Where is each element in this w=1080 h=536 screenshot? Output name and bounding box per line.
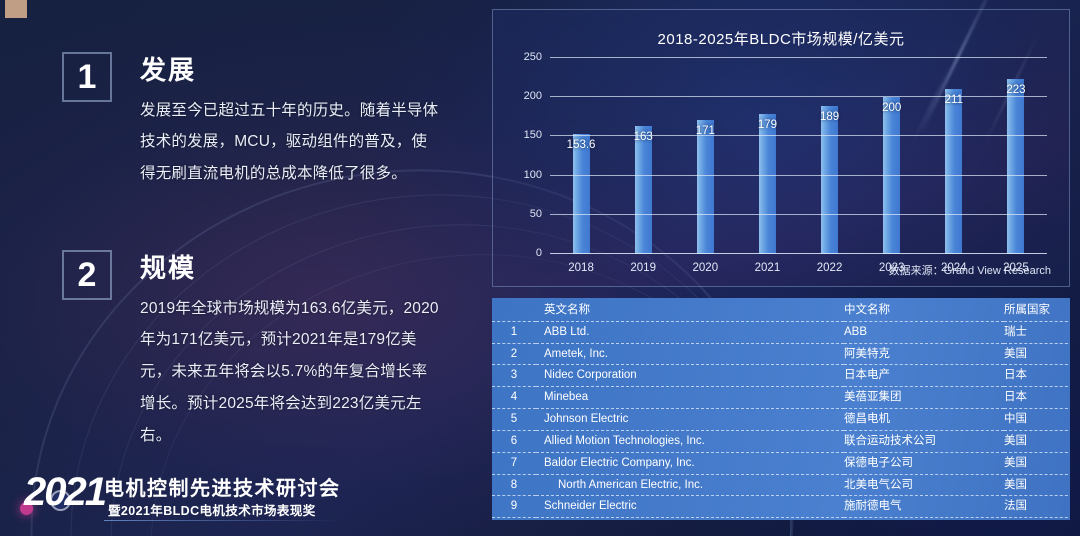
cell-chinese-name: 日本电产 — [844, 365, 1004, 387]
cell-country: 美国 — [1004, 452, 1070, 474]
column-header-country: 所属国家 — [1004, 298, 1070, 321]
column-header-english: 英文名称 — [536, 298, 844, 321]
section-number-badge: 2 — [62, 250, 112, 300]
logo-divider — [104, 520, 342, 521]
chart-y-axis-tick: 50 — [530, 208, 542, 220]
cell-country: 美国 — [1004, 518, 1070, 520]
section-development: 1 发展 发展至今已超过五十年的历史。随着半导体技术的发展，MCU，驱动组件的普… — [62, 52, 440, 190]
cell-country: 美国 — [1004, 343, 1070, 365]
table-row[interactable]: 5Johnson Electric德昌电机中国 — [492, 409, 1070, 431]
chart-bar-slot: 1712020 — [674, 58, 736, 254]
cell-index: 10 — [492, 518, 536, 520]
logo-year: 2021 — [24, 472, 105, 512]
chart-gridline: 50 — [550, 214, 1047, 215]
cell-english-name: Ametek, Inc. — [536, 343, 844, 365]
cell-index: 3 — [492, 365, 536, 387]
section-body: 发展 发展至今已超过五十年的历史。随着半导体技术的发展，MCU，驱动组件的普及，… — [140, 56, 440, 190]
chart-bar[interactable]: 171 — [697, 120, 714, 254]
table-row[interactable]: 4Minebea美蓓亚集团日本 — [492, 387, 1070, 409]
table-head: 英文名称 中文名称 所属国家 — [492, 298, 1070, 321]
cell-chinese-name: 雷勃电气 — [844, 518, 1004, 520]
table-row[interactable]: 2Ametek, Inc.阿美特克美国 — [492, 343, 1070, 365]
section-body: 规模 2019年全球市场规模为163.6亿美元，2020年为171亿美元，预计2… — [140, 254, 440, 451]
chart-y-axis-tick: 100 — [524, 169, 542, 181]
chart-bar-slot: 1632019 — [612, 58, 674, 254]
table-row[interactable]: 10Regal Beloit Corp.雷勃电气美国 — [492, 518, 1070, 520]
table-body: 1ABB Ltd.ABB瑞士2Ametek, Inc.阿美特克美国3Nidec … — [492, 321, 1070, 520]
cell-english-name: Allied Motion Technologies, Inc. — [536, 430, 844, 452]
chart-y-axis-tick: 0 — [536, 247, 542, 259]
section-title: 发展 — [140, 56, 440, 85]
chart-x-axis-tick: 2020 — [693, 262, 719, 274]
table-row[interactable]: 6Allied Motion Technologies, Inc.联合运动技术公… — [492, 430, 1070, 452]
chart-bar[interactable]: 211 — [945, 89, 962, 254]
cell-country: 日本 — [1004, 387, 1070, 409]
chart-bar-value-label: 200 — [882, 102, 901, 114]
chart-bar-value-label: 189 — [820, 111, 839, 123]
cell-index: 8 — [492, 474, 536, 496]
top-companies-table-panel: 英文名称 中文名称 所属国家 1ABB Ltd.ABB瑞士2Ametek, In… — [492, 298, 1070, 520]
cell-english-name: Minebea — [536, 387, 844, 409]
cell-english-name: ABB Ltd. — [536, 321, 844, 343]
chart-bar[interactable]: 153.6 — [573, 134, 590, 254]
section-paragraph: 2019年全球市场规模为163.6亿美元，2020年为171亿美元，预计2021… — [140, 293, 440, 452]
logo-title: 电机控制先进技术研讨会 — [104, 472, 341, 501]
cell-english-name: Schneider Electric — [536, 496, 844, 518]
column-header-index — [492, 298, 536, 321]
chart-y-axis-tick: 250 — [524, 51, 542, 63]
event-logo: 2021 电机控制先进技术研讨会 暨2021年BLDC电机技术市场表现奖 — [14, 466, 354, 530]
chart-bar-slot: 1892022 — [799, 58, 861, 254]
cell-english-name: Regal Beloit Corp. — [536, 518, 844, 520]
table-header-row: 英文名称 中文名称 所属国家 — [492, 298, 1070, 321]
chart-bar[interactable]: 223 — [1007, 79, 1024, 254]
logo-subtitle: 暨2021年BLDC电机技术市场表现奖 — [108, 500, 316, 519]
cell-english-name: North American Electric, Inc. — [536, 474, 844, 496]
chart-x-axis-tick: 2019 — [630, 262, 656, 274]
cell-chinese-name: 阿美特克 — [844, 343, 1004, 365]
market-size-chart-panel: 2018-2025年BLDC市场规模/亿美元 153.6201816320191… — [492, 9, 1070, 287]
chart-x-axis-tick: 2021 — [755, 262, 781, 274]
cell-chinese-name: 保德电子公司 — [844, 452, 1004, 474]
section-title: 规模 — [140, 254, 440, 283]
table-row[interactable]: 1ABB Ltd.ABB瑞士 — [492, 321, 1070, 343]
chart-bar-slot: 153.62018 — [550, 58, 612, 254]
chart-bar-value-label: 223 — [1006, 84, 1025, 96]
chart-title: 2018-2025年BLDC市场规模/亿美元 — [493, 28, 1069, 49]
chart-source-note: 数据来源：Grand View Research — [889, 262, 1051, 278]
chart-plot-area: 153.620181632019171202017920211892022200… — [550, 58, 1047, 254]
chart-gridline: 100 — [550, 175, 1047, 176]
cell-country: 中国 — [1004, 409, 1070, 431]
cell-index: 6 — [492, 430, 536, 452]
cell-index: 5 — [492, 409, 536, 431]
chart-bar-value-label: 179 — [758, 119, 777, 131]
cell-english-name: Johnson Electric — [536, 409, 844, 431]
cell-chinese-name: 德昌电机 — [844, 409, 1004, 431]
cell-chinese-name: ABB — [844, 321, 1004, 343]
cell-english-name: Nidec Corporation — [536, 365, 844, 387]
cell-chinese-name: 联合运动技术公司 — [844, 430, 1004, 452]
cell-country: 瑞士 — [1004, 321, 1070, 343]
table-row[interactable]: 9Schneider Electric施耐德电气法国 — [492, 496, 1070, 518]
cell-country: 美国 — [1004, 430, 1070, 452]
chart-bar-value-label: 153.6 — [567, 139, 596, 151]
table-row[interactable]: 7Baldor Electric Company, Inc.保德电子公司美国 — [492, 452, 1070, 474]
chart-gridline: 200 — [550, 96, 1047, 97]
cell-chinese-name: 美蓓亚集团 — [844, 387, 1004, 409]
chart-bar[interactable]: 189 — [821, 106, 838, 254]
cell-index: 9 — [492, 496, 536, 518]
cell-english-name: Baldor Electric Company, Inc. — [536, 452, 844, 474]
column-header-chinese: 中文名称 — [844, 298, 1004, 321]
chart-bars-group: 153.620181632019171202017920211892022200… — [550, 58, 1047, 254]
chart-bar-slot: 1792021 — [736, 58, 798, 254]
chart-bar-slot: 2112024 — [923, 58, 985, 254]
cell-chinese-name: 施耐德电气 — [844, 496, 1004, 518]
top-companies-table: 英文名称 中文名称 所属国家 1ABB Ltd.ABB瑞士2Ametek, In… — [492, 298, 1070, 520]
section-scale: 2 规模 2019年全球市场规模为163.6亿美元，2020年为171亿美元，预… — [62, 250, 440, 451]
section-paragraph: 发展至今已超过五十年的历史。随着半导体技术的发展，MCU，驱动组件的普及，使得无… — [140, 95, 440, 190]
chart-bar-slot: 2002023 — [861, 58, 923, 254]
left-content-column: 1 发展 发展至今已超过五十年的历史。随着半导体技术的发展，MCU，驱动组件的普… — [0, 0, 480, 536]
chart-y-axis-tick: 150 — [524, 129, 542, 141]
chart-x-axis-tick: 2022 — [817, 262, 843, 274]
table-row[interactable]: 3Nidec Corporation日本电产日本 — [492, 365, 1070, 387]
chart-bar-value-label: 163 — [634, 131, 653, 143]
chart-x-axis-tick: 2018 — [568, 262, 594, 274]
table-watermark: ····· — [1043, 511, 1060, 518]
chart-gridline: 150 — [550, 135, 1047, 136]
cell-index: 7 — [492, 452, 536, 474]
chart-bar[interactable]: 163 — [635, 126, 652, 254]
chart-bar-slot: 2232025 — [985, 58, 1047, 254]
section-number-badge: 1 — [62, 52, 112, 102]
table-row[interactable]: 8North American Electric, Inc.北美电气公司美国 — [492, 474, 1070, 496]
chart-gridline: 0 — [550, 253, 1047, 254]
chart-y-axis-tick: 200 — [524, 90, 542, 102]
cell-index: 2 — [492, 343, 536, 365]
cell-country: 美国 — [1004, 474, 1070, 496]
cell-index: 1 — [492, 321, 536, 343]
chart-gridline: 250 — [550, 57, 1047, 58]
cell-country: 法国 — [1004, 496, 1070, 518]
slide-canvas: 1 发展 发展至今已超过五十年的历史。随着半导体技术的发展，MCU，驱动组件的普… — [0, 0, 1080, 536]
cell-country: 日本 — [1004, 365, 1070, 387]
cell-chinese-name: 北美电气公司 — [844, 474, 1004, 496]
cell-index: 4 — [492, 387, 536, 409]
